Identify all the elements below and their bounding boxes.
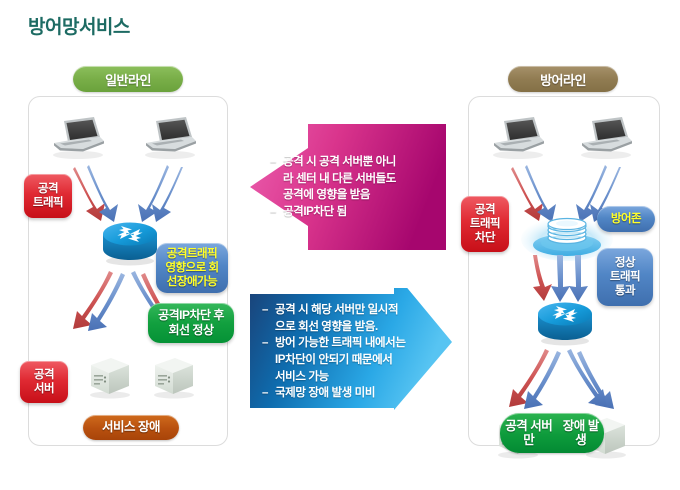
normal-traffic-line-2: 트래픽 xyxy=(610,270,640,284)
line-fault-line-3: 선장애가능 xyxy=(167,275,217,289)
attack-blocked-line-2: 트래픽 xyxy=(470,217,500,231)
blue-arrow-line-1: 공격 시 해당 서버만 일시적 xyxy=(262,302,412,319)
server-icon xyxy=(147,355,201,401)
ip-block-normal-line-2: 회선 정상 xyxy=(169,323,214,338)
right-panel-header-label: 방어라인 xyxy=(508,66,618,92)
pink-arrow-line-3: 공격에 영향을 받음 xyxy=(270,187,442,204)
line-fault-line-1: 공격트래픽 xyxy=(167,247,217,261)
normal-traffic-line-3: 통과 xyxy=(615,284,635,298)
normal-line-result-arrow: 공격 시 공격 서버뿐 아니 라 센터 내 다른 서버들도 공격에 영향을 받음… xyxy=(248,122,448,252)
blue-arrow-line-6: 국제망 장애 발생 미비 xyxy=(262,385,412,402)
attack-traffic-flow-arrows xyxy=(67,163,189,227)
defense-line-result-arrow: 공격 시 해당 서버만 일시적 으로 회선 영향을 받음. 방어 가능한 트래픽… xyxy=(248,288,453,436)
attack-traffic-line-2: 트래픽 xyxy=(33,196,63,210)
defense-zone-label: 방어존 xyxy=(611,212,641,226)
pink-arrow-line-2: 라 센터 내 다른 서버들도 xyxy=(270,171,442,188)
router-icon xyxy=(534,301,596,347)
attack-traffic-callout: 공격 트래픽 xyxy=(24,174,72,218)
blue-arrow-line-3: 방어 가능한 트래픽 내에서는 xyxy=(262,335,412,352)
left-panel-header-label: 일반라인 xyxy=(73,66,183,92)
normal-traffic-line-1: 정상 xyxy=(615,256,635,270)
page-title: 방어망서비스 xyxy=(28,12,130,39)
pink-arrow-line-4: 공격IP차단 됨 xyxy=(270,204,442,221)
attack-blocked-line-3: 차단 xyxy=(475,231,495,245)
blue-arrow-line-2: 으로 회선 영향을 받음. xyxy=(262,319,412,336)
laptop-icon xyxy=(47,115,109,161)
laptop-icon xyxy=(487,115,549,161)
post-router-flow-arrows xyxy=(497,347,631,417)
laptop-icon xyxy=(139,115,201,161)
pink-arrow-line-1: 공격 시 공격 서버뿐 아니 xyxy=(270,154,442,171)
defense-zone-callout: 방어존 xyxy=(597,206,655,232)
attack-blocked-line-1: 공격 xyxy=(475,203,495,217)
server-icon xyxy=(83,355,137,401)
blue-arrow-line-5: 서비스 가능 xyxy=(262,369,412,386)
ip-block-normal-callout: 공격IP차단 후 회선 정상 xyxy=(148,303,234,343)
attack-server-line-1: 공격 xyxy=(34,368,54,382)
right-panel-status-badge: 공격 서버만 장애 발생 xyxy=(500,413,604,453)
blue-arrow-line-4: IP차단이 안되기 때문에서 xyxy=(262,352,412,369)
normal-traffic-pass-callout: 정상 트래픽 통과 xyxy=(597,248,653,306)
right-status-line-2: 장애 발생 xyxy=(557,419,604,448)
attack-server-callout: 공격 서버 xyxy=(20,361,68,403)
router-icon xyxy=(99,221,161,267)
laptop-icon xyxy=(575,115,637,161)
diagram-canvas: 방어망서비스 일반라인 방어라인 xyxy=(0,0,680,490)
right-status-line-1: 공격 서버만 xyxy=(500,419,557,448)
attack-traffic-line-1: 공격 xyxy=(38,182,58,196)
line-fault-callout: 공격트래픽 영향으로 회 선장애가능 xyxy=(156,243,228,293)
attack-server-line-2: 서버 xyxy=(34,382,54,396)
ip-block-normal-line-1: 공격IP차단 후 xyxy=(158,308,224,323)
line-fault-line-2: 영향으로 회 xyxy=(165,261,218,275)
left-panel-status-badge: 서비스 장애 xyxy=(83,415,179,440)
attack-traffic-blocked-callout: 공격 트래픽 차단 xyxy=(461,196,509,252)
